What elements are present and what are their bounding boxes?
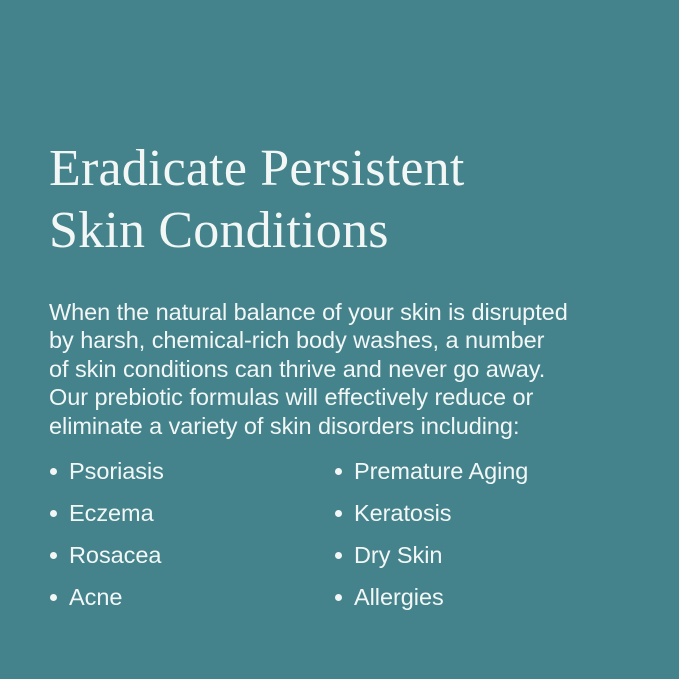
body-line-2: by harsh, chemical-rich body washes, a n…	[49, 326, 615, 355]
body-line-4: Our prebiotic formulas will effectively …	[49, 383, 615, 412]
conditions-column-left: Psoriasis Eczema Rosacea Acne	[49, 450, 334, 618]
list-item: Rosacea	[49, 534, 334, 576]
list-item-label: Keratosis	[354, 492, 452, 534]
bullet-dot-icon	[50, 552, 57, 559]
page-title: Eradicate Persistent Skin Conditions	[49, 138, 649, 262]
bullet-dot-icon	[335, 594, 342, 601]
bullet-dot-icon	[335, 552, 342, 559]
list-item-label: Psoriasis	[69, 450, 164, 492]
list-item: Allergies	[334, 576, 619, 618]
list-item-label: Acne	[69, 576, 122, 618]
list-item-label: Allergies	[354, 576, 444, 618]
bullet-dot-icon	[335, 510, 342, 517]
list-item: Dry Skin	[334, 534, 619, 576]
bullet-dot-icon	[50, 510, 57, 517]
conditions-column-right: Premature Aging Keratosis Dry Skin Aller…	[334, 450, 619, 618]
body-line-3: of skin conditions can thrive and never …	[49, 355, 615, 384]
list-item: Psoriasis	[49, 450, 334, 492]
list-item: Acne	[49, 576, 334, 618]
body-line-1: When the natural balance of your skin is…	[49, 298, 615, 327]
conditions-list-left: Psoriasis Eczema Rosacea Acne	[49, 450, 334, 618]
list-item: Keratosis	[334, 492, 619, 534]
list-item-label: Eczema	[69, 492, 154, 534]
bullet-dot-icon	[50, 594, 57, 601]
list-item-label: Premature Aging	[354, 450, 528, 492]
body-paragraph: When the natural balance of your skin is…	[49, 298, 615, 441]
skin-conditions-lists: Psoriasis Eczema Rosacea Acne	[49, 450, 629, 618]
conditions-list-right: Premature Aging Keratosis Dry Skin Aller…	[334, 450, 619, 618]
bullet-dot-icon	[335, 468, 342, 475]
promo-poster: Eradicate Persistent Skin Conditions Whe…	[0, 0, 679, 679]
headline-line-1: Eradicate Persistent	[49, 138, 649, 200]
list-item: Eczema	[49, 492, 334, 534]
body-line-5: eliminate a variety of skin disorders in…	[49, 412, 615, 441]
bullet-dot-icon	[50, 468, 57, 475]
list-item-label: Rosacea	[69, 534, 161, 576]
list-item-label: Dry Skin	[354, 534, 442, 576]
list-item: Premature Aging	[334, 450, 619, 492]
headline-line-2: Skin Conditions	[49, 200, 649, 262]
